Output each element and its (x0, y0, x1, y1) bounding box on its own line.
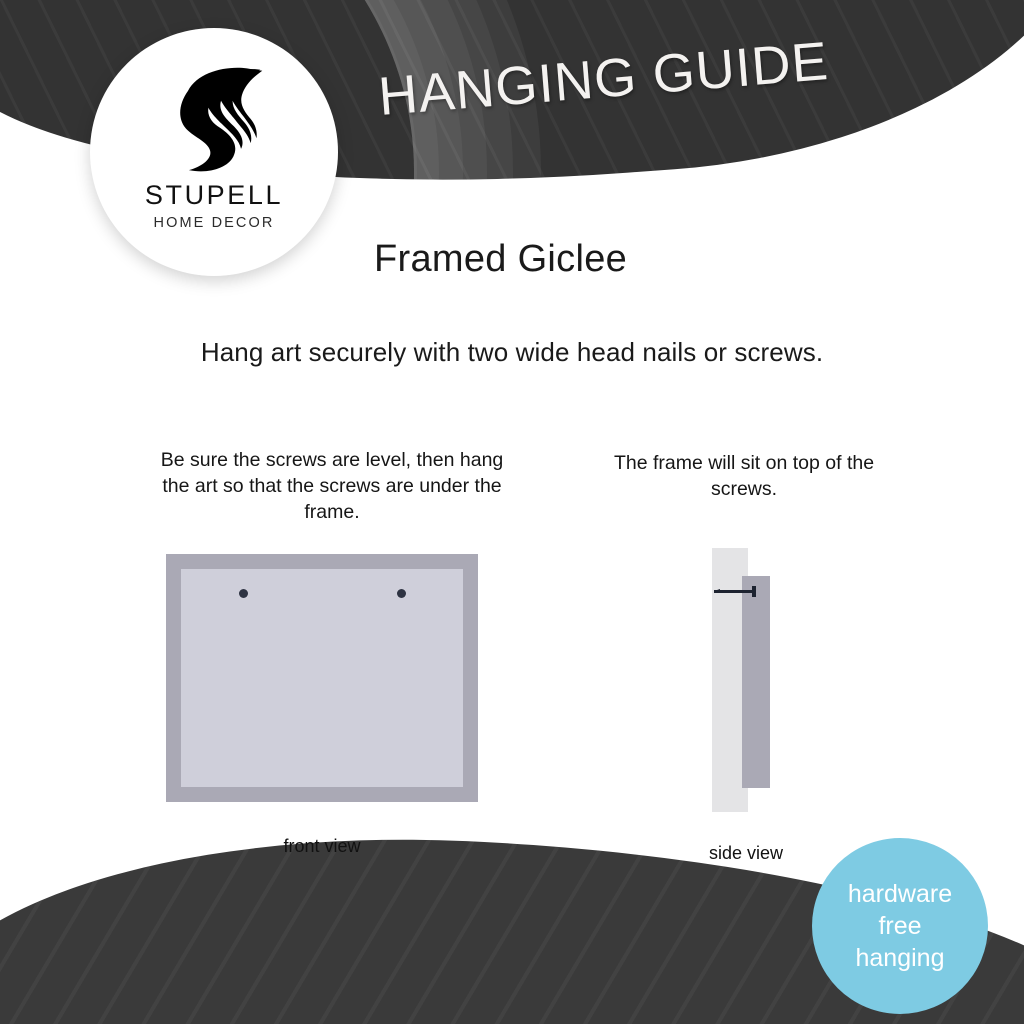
front-view-caption: Be sure the screws are level, then hang … (150, 447, 514, 525)
front-view-label: front view (166, 836, 478, 857)
screw-dot-right (397, 589, 406, 598)
front-view-diagram (166, 554, 478, 802)
side-view-caption: The frame will sit on top of the screws. (596, 450, 892, 502)
side-view-label: side view (660, 843, 832, 864)
screw-dot-left (239, 589, 248, 598)
product-type-title: Framed Giclee (374, 238, 627, 281)
stupell-swoosh-logo-icon (156, 62, 272, 174)
badge-line-1: hardware (848, 878, 952, 910)
frame-strip (742, 576, 770, 788)
nail-side-icon (714, 586, 758, 596)
main-instruction-text: Hang art securely with two wide head nai… (0, 337, 1024, 368)
brand-tagline: HOME DECOR (154, 215, 275, 231)
hanging-guide-infographic: STUPELL HOME DECOR HANGING GUIDE Framed … (0, 0, 1024, 1024)
side-view-diagram (706, 540, 786, 820)
hardware-free-badge: hardware free hanging (812, 838, 988, 1014)
brand-name: STUPELL (145, 180, 283, 211)
badge-line-3: hanging (856, 942, 945, 974)
nail-head (752, 586, 756, 597)
badge-line-2: free (878, 910, 921, 942)
frame-panel (181, 569, 463, 787)
nail-shaft (714, 590, 754, 593)
brand-logo-badge: STUPELL HOME DECOR (90, 28, 338, 276)
